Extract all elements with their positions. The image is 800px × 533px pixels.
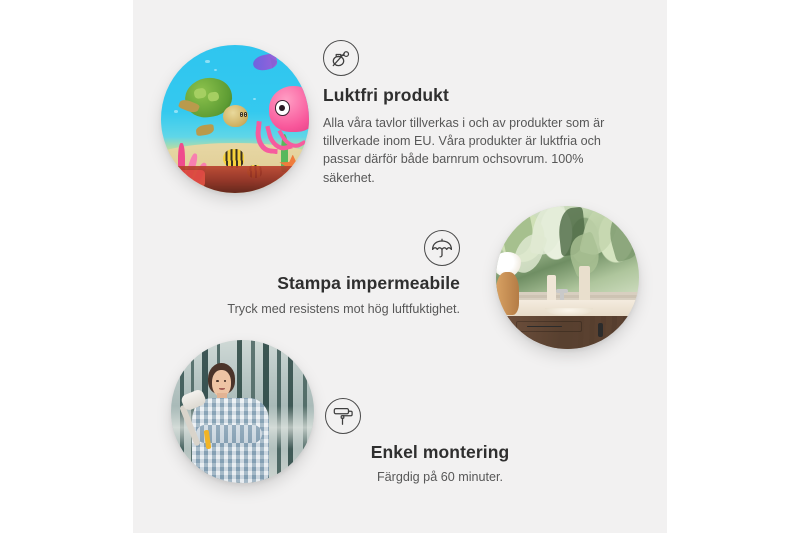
feature-title: Enkel montering xyxy=(325,442,555,464)
feature-image-bathroom xyxy=(496,206,639,349)
feature-description: Tryck med resistens mot hög luftfuktighe… xyxy=(133,300,460,318)
feature-title: Luktfri produkt xyxy=(323,85,633,107)
feature-description: Färgdig på 60 minuter. xyxy=(325,468,555,486)
umbrella-icon xyxy=(424,230,460,266)
feature-image-woman-roller xyxy=(171,340,314,483)
feature-block-easy-installation: Enkel montering Färgdig på 60 minuter. xyxy=(325,398,555,486)
feature-block-odour-free: Luktfri produkt Alla våra tavlor tillver… xyxy=(323,40,633,187)
underwater-illustration xyxy=(161,45,309,193)
feature-title: Stampa impermeabile xyxy=(133,273,460,295)
feature-description: Alla våra tavlor tillverkas i och av pro… xyxy=(323,114,619,187)
feature-image-underwater xyxy=(161,45,309,193)
paint-roller-icon xyxy=(325,398,361,434)
feature-block-waterproof: Stampa impermeabile Tryck med resistens … xyxy=(133,230,460,318)
bathroom-illustration xyxy=(496,206,639,349)
woman-roller-illustration xyxy=(171,340,314,483)
content-panel: Luktfri produkt Alla våra tavlor tillver… xyxy=(133,0,667,533)
page-stage: Luktfri produkt Alla våra tavlor tillver… xyxy=(0,0,800,533)
no-smell-spray-bottle-icon xyxy=(323,40,359,76)
